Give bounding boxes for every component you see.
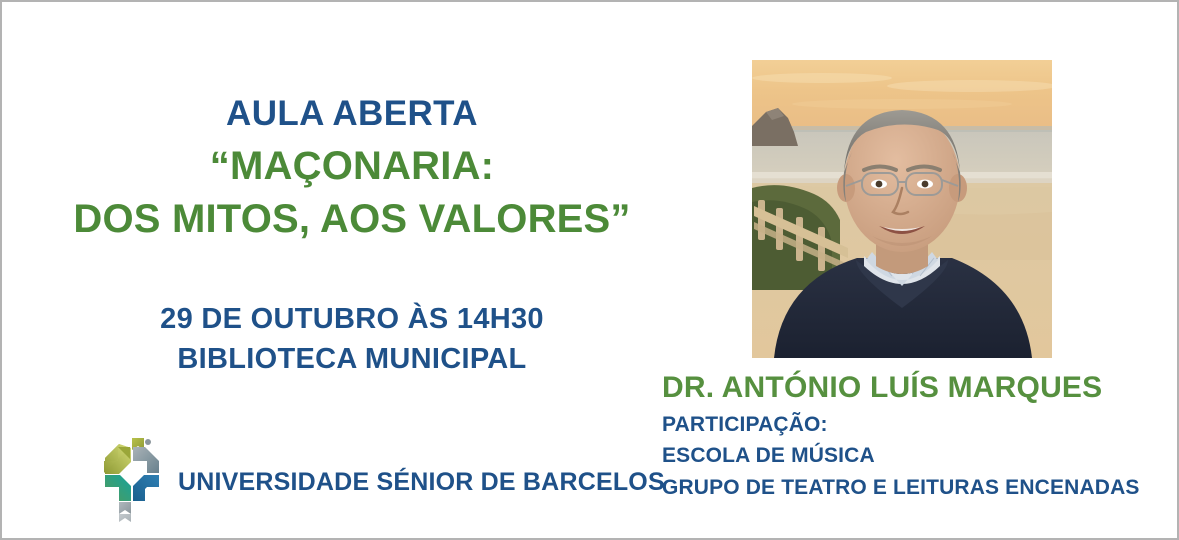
organization-name: UNIVERSIDADE SÉNIOR DE BARCELOS xyxy=(178,468,665,497)
left-column: AULA ABERTA “MAÇONARIA: DOS MITOS, AOS V… xyxy=(2,2,702,540)
event-venue: BIBLIOTECA MUNICIPAL xyxy=(2,339,702,379)
participation-list: PARTICIPAÇÃO: ESCOLA DE MÚSICA GRUPO DE … xyxy=(662,409,1172,502)
organization-row: UNIVERSIDADE SÉNIOR DE BARCELOS xyxy=(92,434,665,526)
speaker-name: DR. ANTÓNIO LUÍS MARQUES xyxy=(662,370,1172,405)
participation-item-music-school: ESCOLA DE MÚSICA xyxy=(662,440,1172,471)
headline-block: AULA ABERTA “MAÇONARIA: DOS MITOS, AOS V… xyxy=(2,94,702,246)
speaker-photo xyxy=(752,60,1052,358)
headline-title-line-1: “MAÇONARIA: xyxy=(2,140,702,193)
participation-item-theatre-group: GRUPO DE TEATRO E LEITURAS ENCENADAS xyxy=(662,472,1172,503)
pinwheel-diamond-logo-icon xyxy=(92,434,170,526)
participation-label: PARTICIPAÇÃO: xyxy=(662,409,1172,440)
event-date-time: 29 DE OUTUBRO ÀS 14H30 xyxy=(2,299,702,339)
event-poster: AULA ABERTA “MAÇONARIA: DOS MITOS, AOS V… xyxy=(0,0,1179,540)
headline-title: “MAÇONARIA: DOS MITOS, AOS VALORES” xyxy=(2,140,702,246)
event-details-block: 29 DE OUTUBRO ÀS 14H30 BIBLIOTECA MUNICI… xyxy=(2,299,702,379)
headline-title-line-2: DOS MITOS, AOS VALORES” xyxy=(2,193,702,246)
speaker-info-block: DR. ANTÓNIO LUÍS MARQUES PARTICIPAÇÃO: E… xyxy=(662,370,1172,503)
headline-kicker: AULA ABERTA xyxy=(2,94,702,134)
